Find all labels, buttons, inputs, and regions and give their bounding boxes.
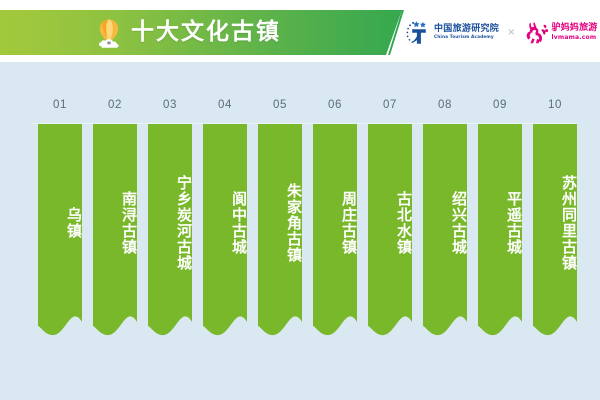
- bar-column[interactable]: 乌镇: [38, 124, 82, 339]
- bar-column[interactable]: 苏州同里古镇: [533, 124, 577, 339]
- bar-column[interactable]: 周庄古镇: [313, 124, 357, 339]
- bar-column[interactable]: 阆中古城: [203, 124, 247, 339]
- bar-column[interactable]: 宁乡炭河古城: [148, 124, 192, 339]
- logo-separator-x: ×: [505, 27, 517, 38]
- bar-column[interactable]: 平遥古城: [478, 124, 522, 339]
- bar-label: 绍兴古城: [423, 191, 467, 255]
- bar-label: 周庄古镇: [313, 191, 357, 255]
- bar-label: 宁乡炭河古城: [148, 175, 192, 271]
- logo-china-tourism-academy[interactable]: 中国旅游研究院 China Tourism Academy: [404, 19, 499, 46]
- partner-logos: 中国旅游研究院 China Tourism Academy ×: [398, 10, 598, 55]
- infographic-root: 十大文化古镇: [0, 0, 600, 400]
- bar-column[interactable]: 古北水镇: [368, 124, 412, 339]
- bar-label: 南浔古镇: [93, 191, 137, 255]
- bar-label: 朱家角古镇: [258, 183, 302, 263]
- lvmama-name-en: lvmama.com: [552, 35, 598, 41]
- bar-label: 古北水镇: [368, 191, 412, 255]
- hot-air-balloon-icon: [96, 18, 122, 48]
- bar-label: 阆中古城: [203, 191, 247, 255]
- cta-t-star-icon: [404, 19, 431, 46]
- bar-column[interactable]: 朱家角古镇: [258, 124, 302, 339]
- cta-name-en: China Tourism Academy: [434, 36, 499, 40]
- bar-label: 苏州同里古镇: [533, 175, 577, 271]
- logo-lvmama[interactable]: 驴妈妈旅游 lvmama.com: [524, 21, 598, 45]
- header: 十大文化古镇: [0, 0, 600, 62]
- lvmama-wordmark: 驴妈妈旅游 lvmama.com: [552, 24, 598, 41]
- cta-name-cn: 中国旅游研究院: [434, 25, 499, 34]
- bar-label: 平遥古城: [478, 191, 522, 255]
- donkey-icon: [524, 21, 550, 45]
- header-title-group: 十大文化古镇: [96, 10, 281, 55]
- bar-column[interactable]: 南浔古镇: [93, 124, 137, 339]
- bar-label: 乌镇: [38, 207, 82, 239]
- lvmama-name-cn: 驴妈妈旅游: [552, 24, 598, 33]
- page-title: 十大文化古镇: [131, 21, 281, 44]
- bar-group: 乌镇南浔古镇宁乡炭河古城阆中古城朱家角古镇周庄古镇古北水镇绍兴古城平遥古城苏州同…: [0, 62, 600, 400]
- bar-column[interactable]: 绍兴古城: [423, 124, 467, 339]
- bar-chart: 01020304050607080910 乌镇南浔古镇宁乡炭河古城阆中古城朱家角…: [0, 62, 600, 400]
- cta-wordmark: 中国旅游研究院 China Tourism Academy: [434, 25, 499, 40]
